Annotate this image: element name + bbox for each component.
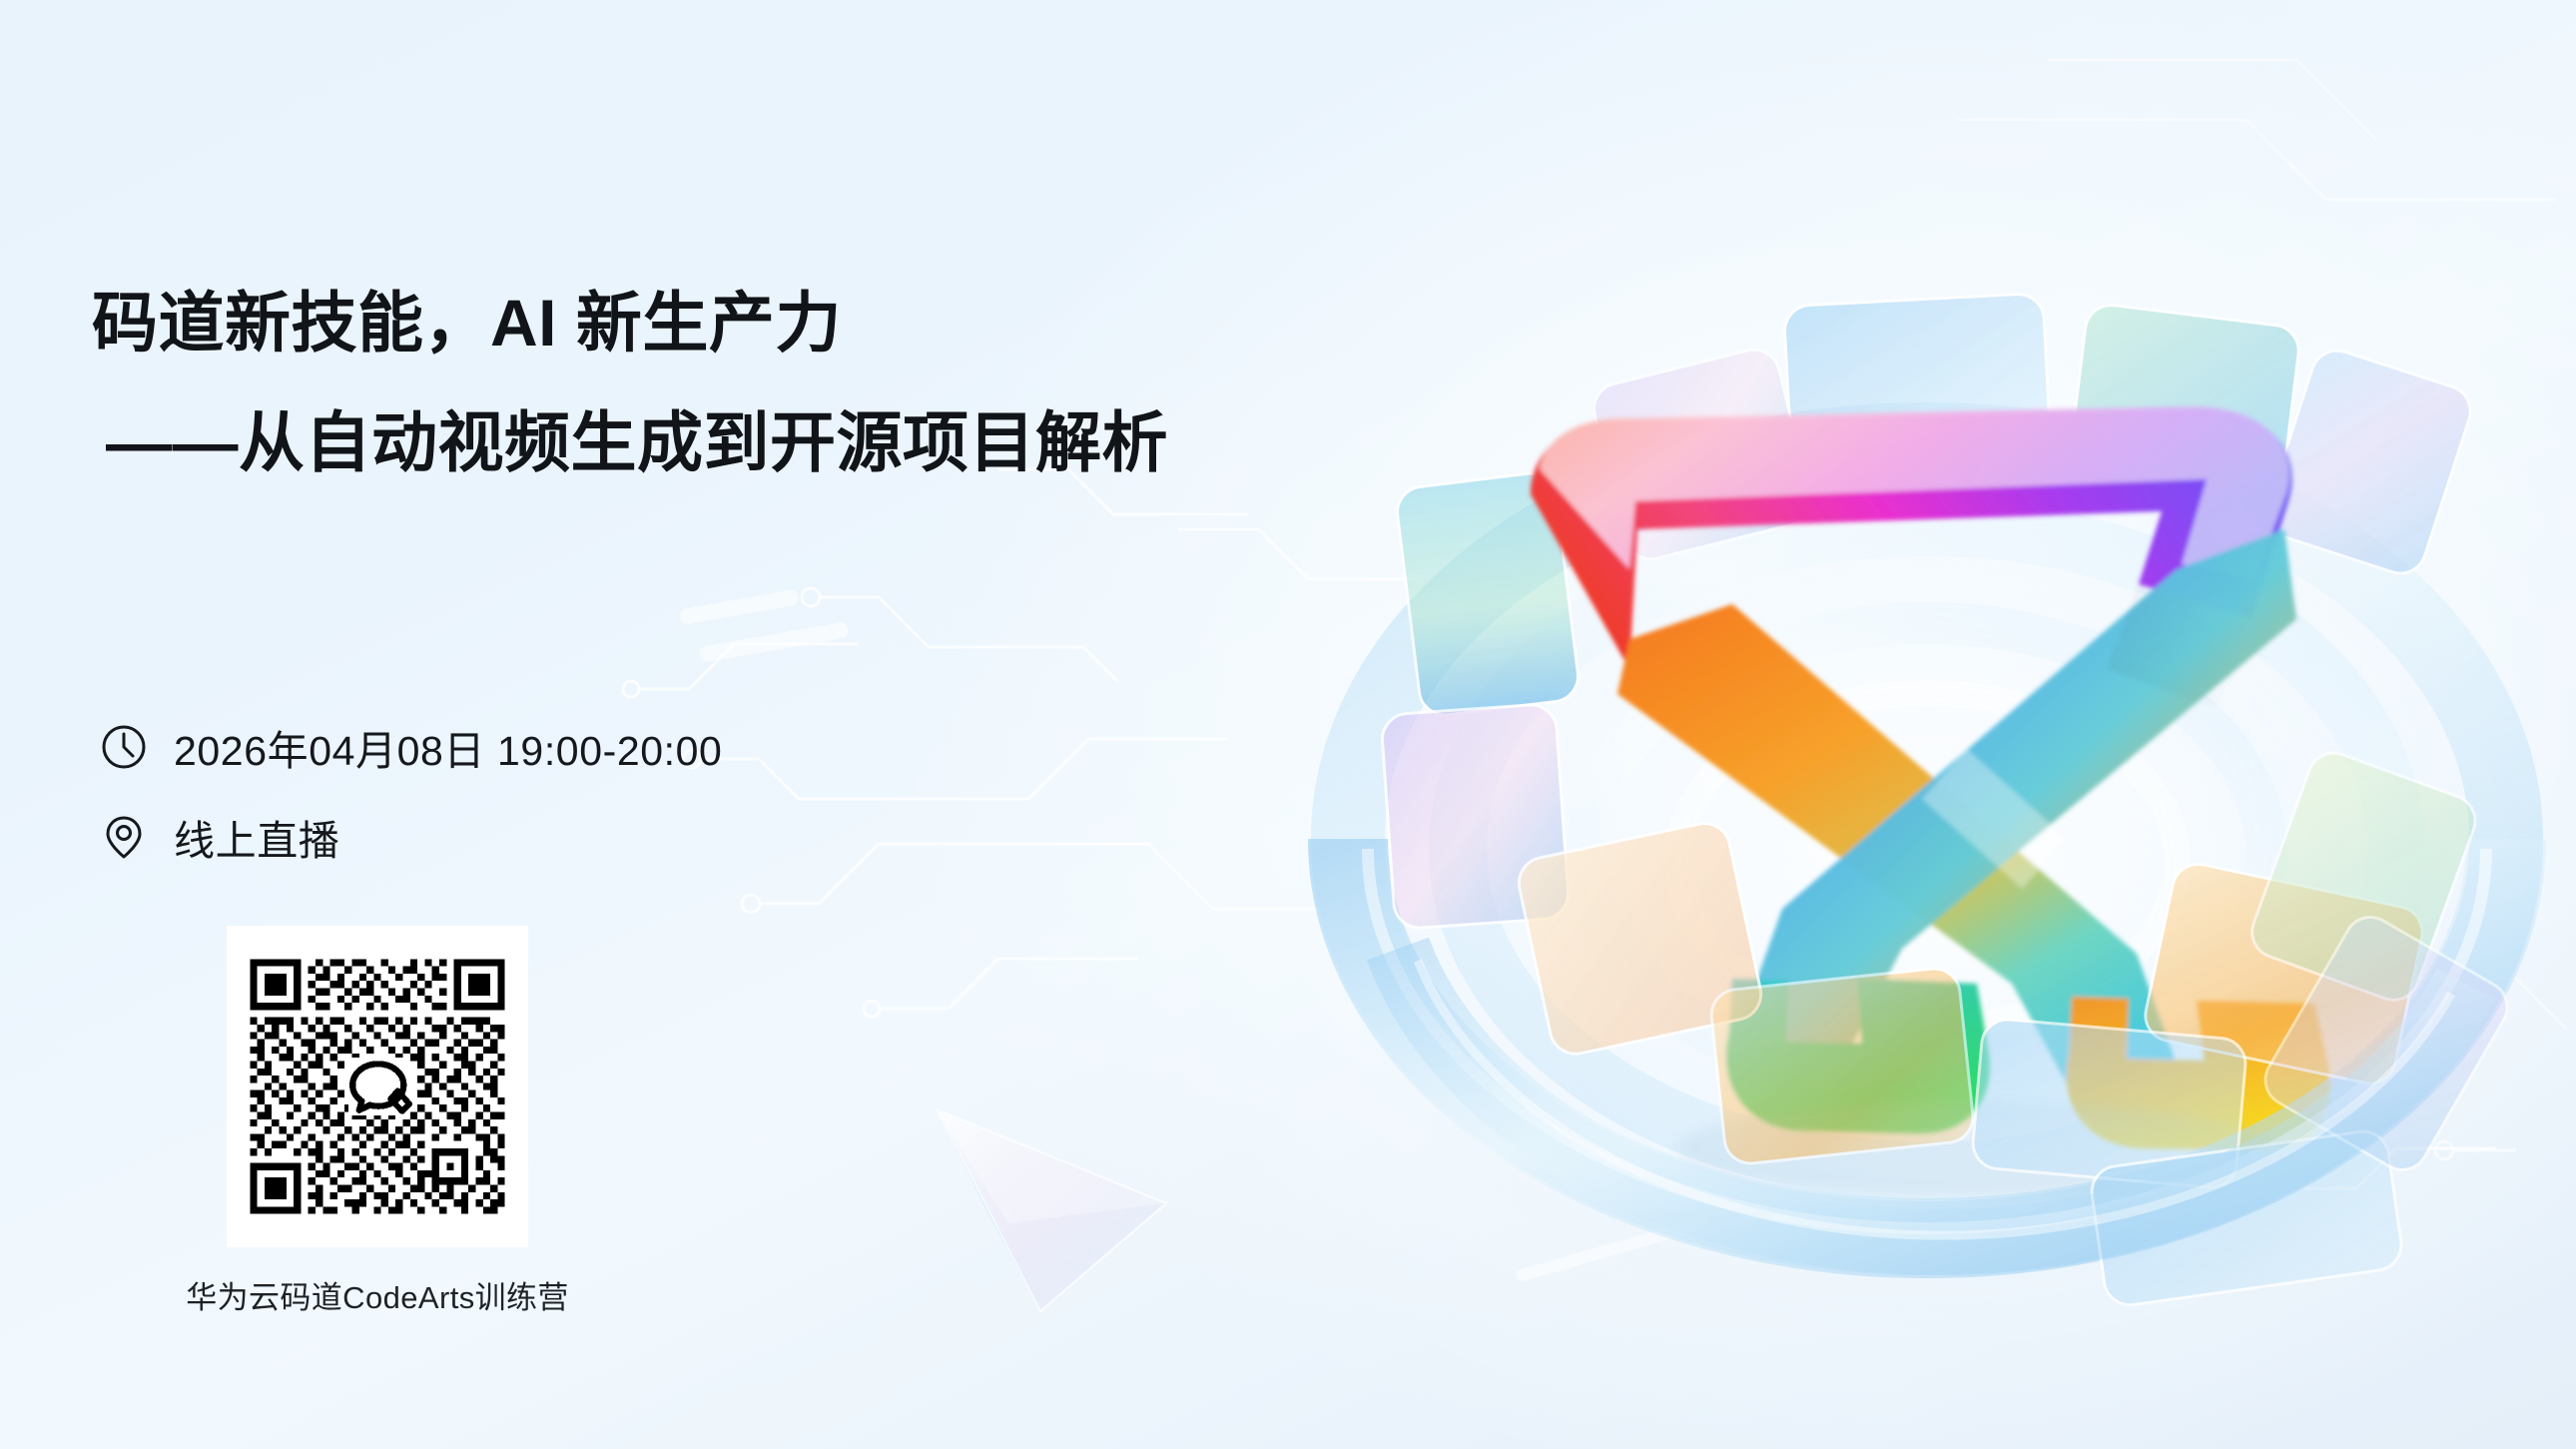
ring-card-segments-front [1381, 703, 2517, 1308]
event-poster: 码道新技能，AI 新生产力 ——从自动视频生成到开源项目解析 2026年04月0… [0, 0, 2576, 1449]
outer-glass-ring-back [1348, 439, 2506, 1238]
ring-card-segments-back [1395, 293, 2477, 718]
qr-card[interactable] [228, 927, 527, 1246]
hero-artwork-rainbow-ribbon [1278, 150, 2576, 1449]
event-datetime-text: 2026年04月08日 19:00-20:00 [174, 717, 722, 777]
qr-caption: 华为云码道CodeArts训练营 [143, 1272, 612, 1317]
clock-icon [100, 723, 148, 771]
qr-code-image[interactable] [243, 952, 512, 1221]
qr-section: 华为云码道CodeArts训练营 [228, 927, 527, 1317]
node-decoration [2435, 1141, 2516, 1159]
event-meta: 2026年04月08日 19:00-20:00 线上直播 [100, 711, 722, 873]
poster-content: 码道新技能，AI 新生产力 ——从自动视频生成到开源项目解析 2026年04月0… [0, 0, 1098, 1449]
page-title-line-1: 码道新技能，AI 新生产力 [92, 290, 1090, 356]
page-title-line-2: ——从自动视频生成到开源项目解析 [106, 409, 1090, 475]
event-location-text: 线上直播 [174, 807, 339, 867]
mid-glass-ring [1458, 527, 2396, 1170]
event-datetime-row: 2026年04月08日 19:00-20:00 [100, 711, 722, 783]
inner-glass-ring [1588, 623, 2266, 1087]
event-location-row: 线上直播 [100, 801, 722, 873]
title-block: 码道新技能，AI 新生产力 ——从自动视频生成到开源项目解析 [92, 290, 1090, 475]
outer-glass-ring-front [1348, 839, 2506, 1238]
rainbow-ribbon [1531, 406, 2330, 1150]
location-pin-icon [100, 813, 148, 861]
